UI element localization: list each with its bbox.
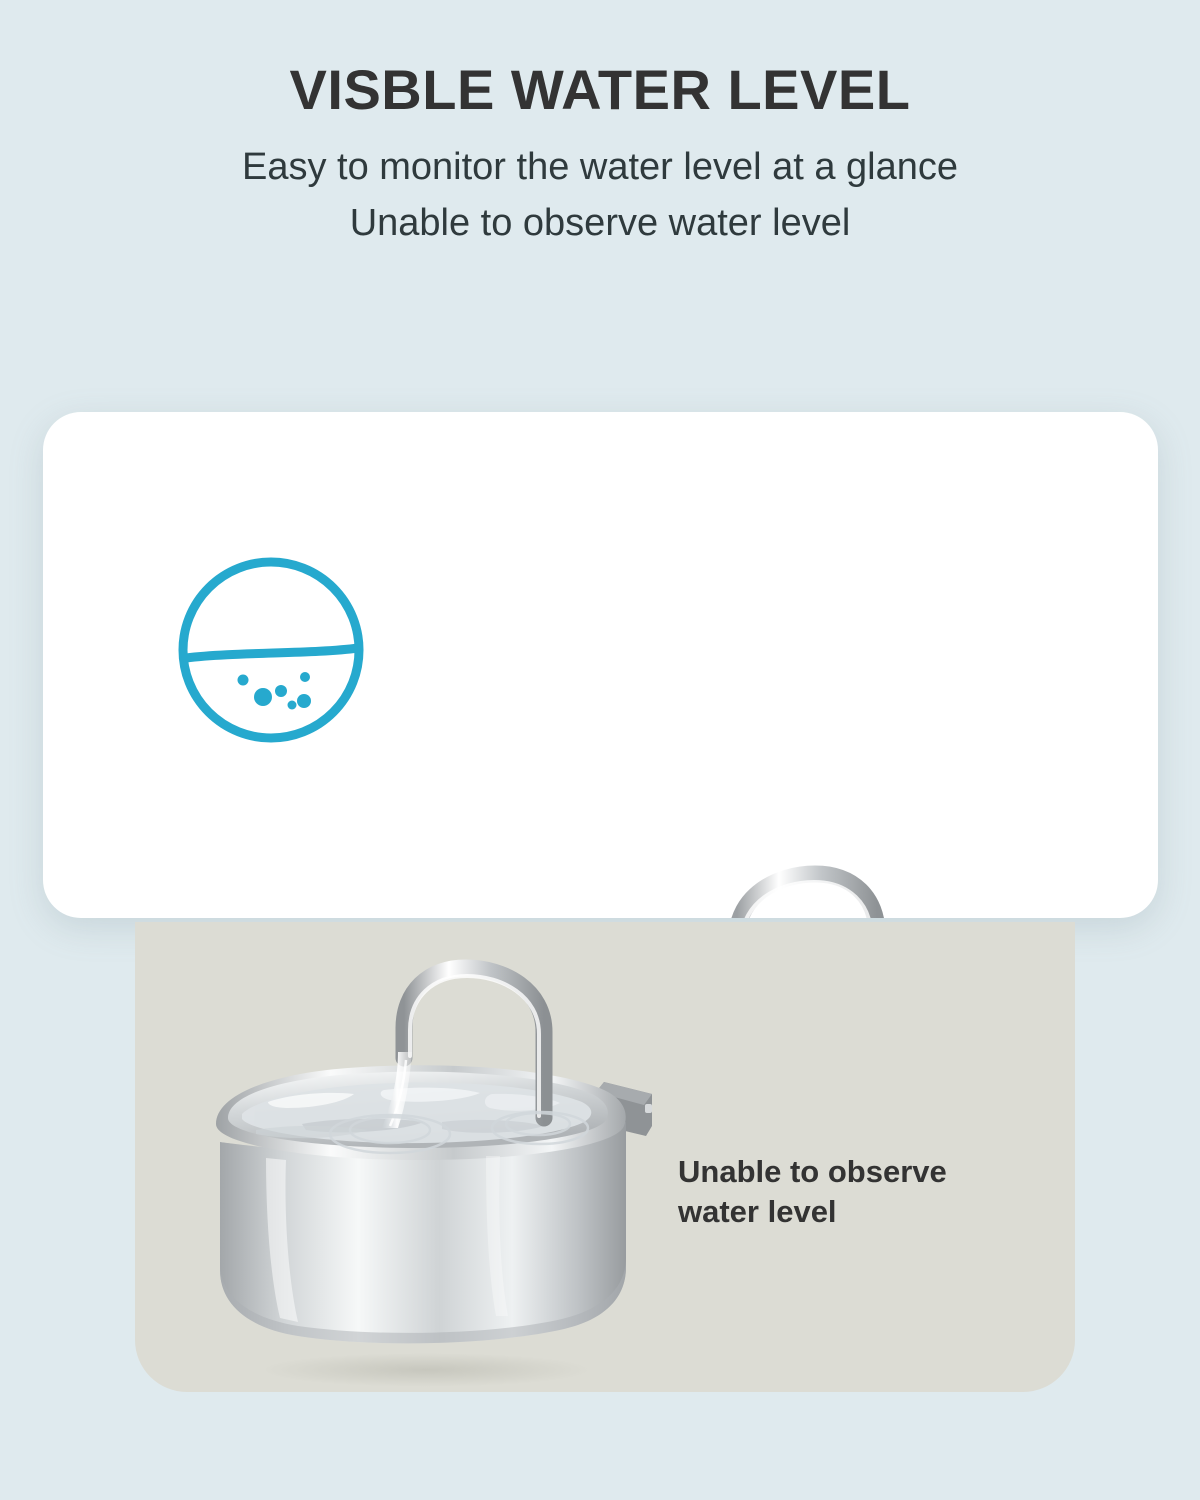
water-level-circle-icon [175,554,367,746]
caption-line-2: water level [678,1192,1038,1232]
subtitle-line-2: Unable to observe water level [0,202,1200,246]
product-fountain-no-window [186,952,666,1392]
caption-line-1: Unable to observe [678,1152,1038,1192]
product-fountain-with-window [619,856,1089,918]
page-title: VISBLE WATER LEVEL [0,62,1200,118]
feature-card [43,412,1158,918]
fountain-spout [737,874,877,918]
page-header: VISBLE WATER LEVEL Easy to monitor the w… [0,0,1200,245]
comparison-caption: Unable to observe water level [678,1152,1038,1231]
subtitle-line-1: Easy to monitor the water level at a gla… [0,146,1200,190]
